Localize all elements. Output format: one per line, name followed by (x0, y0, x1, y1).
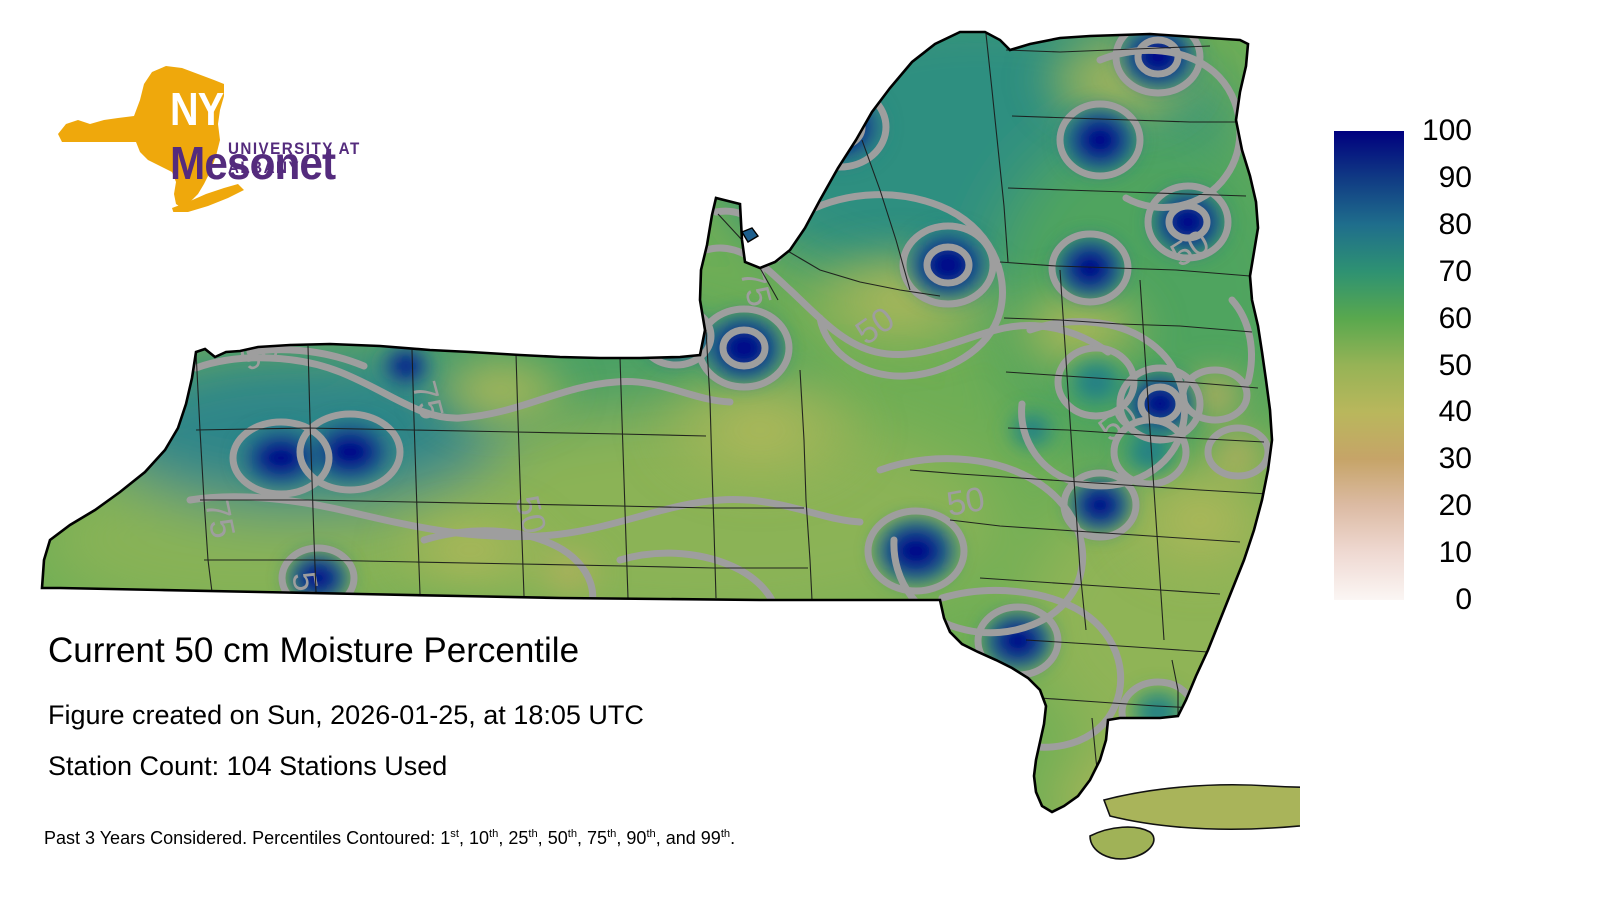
svg-text:50: 50 (944, 480, 988, 524)
island-detail (742, 228, 758, 242)
colorbar-tick-40: 40 (1439, 397, 1472, 427)
percentile-level-25: 25th (508, 828, 537, 848)
station-count-text: Station Count: 104 Stations Used (48, 751, 447, 782)
colorbar (1334, 131, 1404, 600)
colorbar-tick-10: 10 (1439, 538, 1472, 568)
percentile-level-75: 75th (587, 828, 616, 848)
percentile-level-50: 50th (548, 828, 577, 848)
figure-root: 90 75 75 75 50 50 50 50 50 50 (0, 0, 1600, 900)
percentile-level-1: 1st (440, 828, 459, 848)
logo-nys-text: NYS (170, 82, 249, 136)
colorbar-tick-50: 50 (1439, 351, 1472, 381)
colorbar-tick-60: 60 (1439, 304, 1472, 334)
svg-text:50: 50 (284, 569, 328, 613)
colorbar-tick-30: 30 (1439, 444, 1472, 474)
contour-note: Past 3 Years Considered. Percentiles Con… (44, 828, 735, 849)
percentile-level-90: 90th (626, 828, 655, 848)
logo-subtitle: UNIVERSITY AT ALBANY (228, 140, 394, 178)
page-title: Current 50 cm Moisture Percentile (48, 631, 579, 671)
created-timestamp: Figure created on Sun, 2026-01-25, at 18… (48, 700, 644, 731)
long-island (1090, 744, 1300, 859)
colorbar-tick-100: 100 (1422, 116, 1472, 146)
nys-mesonet-logo: NYSMesonet UNIVERSITY AT ALBANY (48, 62, 408, 212)
colorbar-tick-labels: 1009080706050403020100 (1412, 131, 1472, 600)
colorbar-tick-20: 20 (1439, 491, 1472, 521)
colorbar-tick-70: 70 (1439, 257, 1472, 287)
colorbar-tick-80: 80 (1439, 210, 1472, 240)
percentile-level-10: 10th (469, 828, 498, 848)
colorbar-tick-90: 90 (1439, 163, 1472, 193)
percentile-level-99: and 99th (666, 828, 730, 848)
colorbar-gradient (1334, 131, 1404, 600)
colorbar-tick-0: 0 (1455, 585, 1472, 615)
